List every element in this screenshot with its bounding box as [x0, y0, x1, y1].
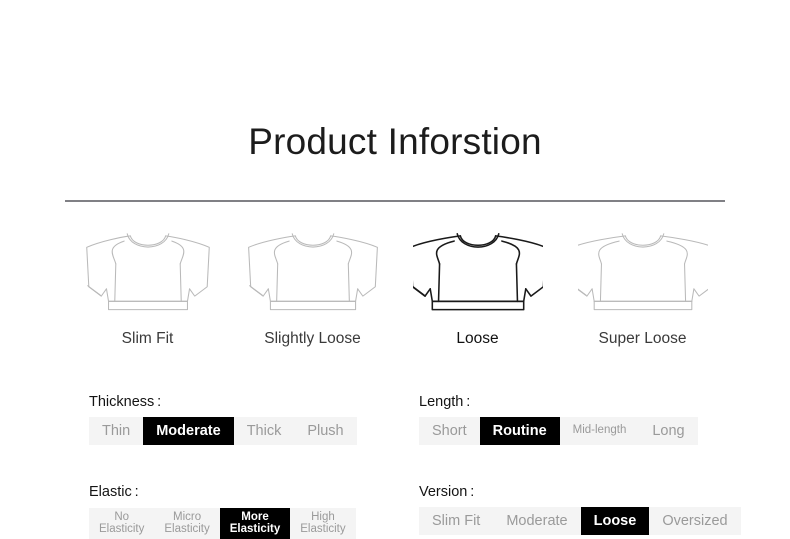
sweatshirt-icon: [83, 212, 213, 320]
chip-thickness-moderate[interactable]: Moderate: [143, 417, 233, 445]
chip-label-line2: Elasticity: [99, 523, 144, 535]
chip-elastic-no-elasticity[interactable]: NoElasticity: [89, 508, 154, 539]
chip-length-mid-length[interactable]: Mid-length: [560, 417, 640, 445]
fit-option-label: Slim Fit: [122, 330, 174, 348]
length-label: Length :: [419, 394, 698, 410]
chip-label-line1: More: [241, 511, 268, 523]
chip-label-line2: Elasticity: [300, 523, 345, 535]
fit-option-slim-fit[interactable]: Slim Fit: [65, 212, 230, 348]
chip-label: Plush: [307, 424, 343, 439]
chip-label: Mid-length: [573, 425, 627, 437]
chip-label-line1: Micro: [173, 511, 201, 523]
fit-option-loose[interactable]: Loose: [395, 212, 560, 348]
chip-label: Moderate: [156, 424, 220, 439]
chip-label: Routine: [493, 424, 547, 439]
chip-label: Moderate: [506, 514, 567, 529]
chip-label-line2: Elasticity: [230, 523, 281, 535]
chip-label: Thick: [247, 424, 282, 439]
chip-label: Long: [652, 424, 684, 439]
option-group-version: Version : Slim FitModerateLooseOversized: [419, 484, 741, 535]
chip-elastic-high-elasticity[interactable]: HighElasticity: [290, 508, 355, 539]
page-title: Product Inforstion: [0, 122, 790, 163]
header-divider: [65, 200, 725, 202]
chip-elastic-more-elasticity[interactable]: MoreElasticity: [220, 508, 291, 539]
sweatshirt-icon: [413, 212, 543, 320]
thickness-chip-strip[interactable]: ThinModerateThickPlush: [89, 417, 357, 445]
sweatshirt-icon: [578, 212, 708, 320]
chip-thickness-plush[interactable]: Plush: [294, 417, 356, 445]
fit-option-super-loose[interactable]: Super Loose: [560, 212, 725, 348]
chip-version-moderate[interactable]: Moderate: [493, 507, 580, 535]
chip-length-routine[interactable]: Routine: [480, 417, 560, 445]
chip-version-oversized[interactable]: Oversized: [649, 507, 740, 535]
chip-label-stack: NoElasticity: [99, 511, 144, 535]
chip-thickness-thick[interactable]: Thick: [234, 417, 295, 445]
option-group-elastic: Elastic : NoElasticityMicroElasticityMor…: [89, 484, 356, 539]
chip-thickness-thin[interactable]: Thin: [89, 417, 143, 445]
fit-illustration-row: Slim Fit Slightly Loose Loose: [65, 212, 725, 360]
chip-label-stack: MicroElasticity: [164, 511, 209, 535]
chip-label: Slim Fit: [432, 514, 480, 529]
fit-option-label: Super Loose: [599, 330, 687, 348]
fit-option-label: Loose: [456, 330, 498, 348]
version-chip-strip[interactable]: Slim FitModerateLooseOversized: [419, 507, 741, 535]
elastic-chip-strip[interactable]: NoElasticityMicroElasticityMoreElasticit…: [89, 508, 356, 539]
fit-option-label: Slightly Loose: [264, 330, 361, 348]
chip-version-slim-fit[interactable]: Slim Fit: [419, 507, 493, 535]
version-label: Version :: [419, 484, 741, 500]
chip-label: Loose: [594, 514, 637, 529]
chip-elastic-micro-elasticity[interactable]: MicroElasticity: [154, 508, 219, 539]
chip-length-short[interactable]: Short: [419, 417, 480, 445]
thickness-label: Thickness :: [89, 394, 357, 410]
chip-label: Oversized: [662, 514, 727, 529]
chip-label-line2: Elasticity: [164, 523, 209, 535]
product-information-panel: Product Inforstion Slim Fit Slightly Loo…: [0, 0, 790, 538]
chip-version-loose[interactable]: Loose: [581, 507, 650, 535]
elastic-label: Elastic :: [89, 484, 356, 500]
chip-label: Thin: [102, 424, 130, 439]
option-group-thickness: Thickness : ThinModerateThickPlush: [89, 394, 357, 445]
option-group-length: Length : ShortRoutineMid-lengthLong: [419, 394, 698, 445]
fit-option-slightly-loose[interactable]: Slightly Loose: [230, 212, 395, 348]
chip-label-stack: HighElasticity: [300, 511, 345, 535]
chip-label-stack: MoreElasticity: [230, 511, 281, 535]
chip-length-long[interactable]: Long: [639, 417, 697, 445]
sweatshirt-icon: [248, 212, 378, 320]
chip-label-line1: High: [311, 511, 335, 523]
chip-label-line1: No: [114, 511, 129, 523]
chip-label: Short: [432, 424, 467, 439]
length-chip-strip[interactable]: ShortRoutineMid-lengthLong: [419, 417, 698, 445]
